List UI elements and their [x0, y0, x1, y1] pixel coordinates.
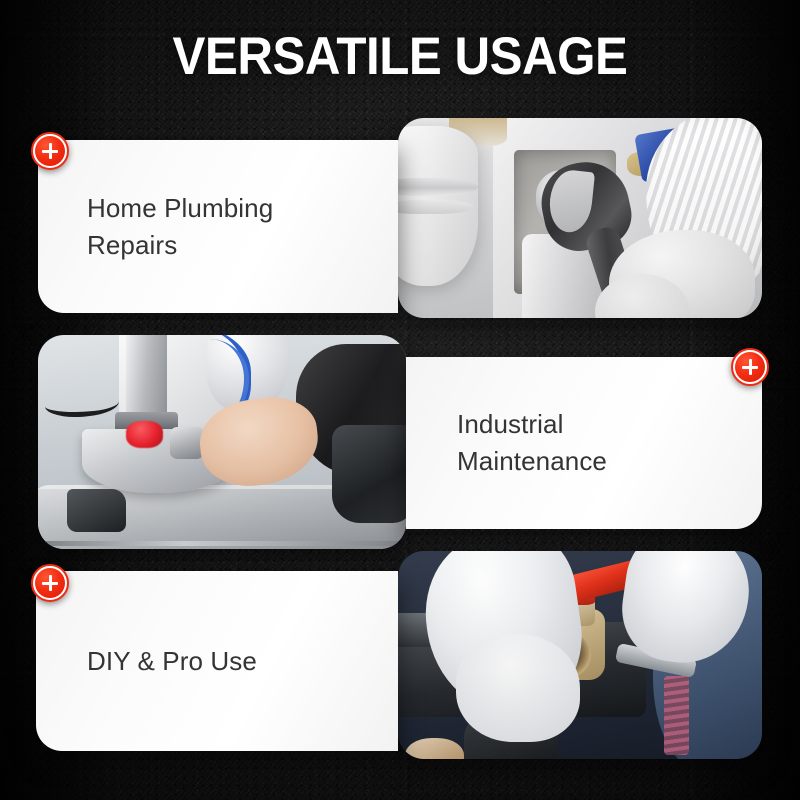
- page-title: VERSATILE USAGE: [28, 26, 772, 88]
- photo-layer-tint: [398, 551, 762, 759]
- feature-row-diy-and-pro-use: DIY & Pro Use: [0, 551, 800, 771]
- feature-card-industrial-maintenance[interactable]: Industrial Maintenance: [406, 357, 762, 529]
- feature-image-diy-and-pro-use: [398, 551, 762, 759]
- plus-icon-glyph: [735, 352, 765, 382]
- feature-label-industrial-maintenance: Industrial Maintenance: [457, 406, 607, 480]
- plus-icon-diy-and-pro-use[interactable]: [31, 564, 69, 602]
- photo-layer-tint: [38, 335, 406, 549]
- feature-image-industrial-maintenance: [38, 335, 406, 549]
- feature-row-industrial-maintenance: Industrial Maintenance: [0, 335, 800, 551]
- photo-layer-tint: [398, 118, 762, 318]
- photo-scene-plumbing: [398, 118, 762, 318]
- feature-card-diy-and-pro-use[interactable]: DIY & Pro Use: [36, 571, 398, 751]
- feature-card-home-plumbing-repairs[interactable]: Home Plumbing Repairs: [38, 140, 398, 313]
- feature-label-diy-and-pro-use: DIY & Pro Use: [87, 643, 257, 680]
- photo-scene-ball-valve: [398, 551, 762, 759]
- feature-image-home-plumbing-repairs: [398, 118, 762, 318]
- plus-icon-home-plumbing-repairs[interactable]: [31, 132, 69, 170]
- plus-icon-glyph: [35, 136, 65, 166]
- plus-icon-industrial-maintenance[interactable]: [731, 348, 769, 386]
- poster-canvas: VERSATILE USAGE: [0, 0, 800, 800]
- plus-icon-glyph: [35, 568, 65, 598]
- feature-label-home-plumbing-repairs: Home Plumbing Repairs: [87, 190, 273, 264]
- feature-row-home-plumbing-repairs: Home Plumbing Repairs: [0, 118, 800, 320]
- photo-scene-industrial: [38, 335, 406, 549]
